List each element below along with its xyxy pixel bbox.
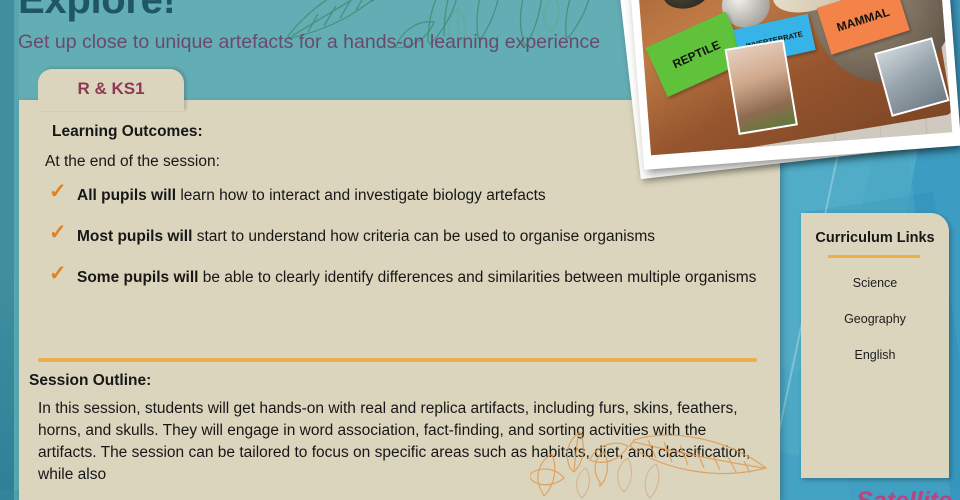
left-strip-outer	[0, 0, 14, 500]
bullet-lead: All pupils will	[77, 187, 176, 204]
list-item: Geography	[801, 312, 949, 326]
section-divider	[38, 358, 757, 362]
slide-canvas: Explore! Get up close to unique artefact…	[0, 0, 960, 500]
page-subtitle: Get up close to unique artefacts for a h…	[18, 31, 600, 54]
check-mark-icon: ✓	[49, 222, 67, 243]
photo-collage: BIRD REPTILE INVERTEBRATE MAMMAL	[625, 0, 955, 170]
list-item: ✓ All pupils will learn how to interact …	[45, 185, 757, 207]
list-item: English	[801, 348, 949, 362]
tab-key-stage[interactable]: R & KS1	[38, 69, 184, 111]
curriculum-links-rule	[828, 255, 920, 258]
session-outline-body: In this session, students will get hands…	[38, 398, 768, 486]
brand-logo-text: Satellite	[856, 487, 952, 500]
bullet-rest: start to understand how criteria can be …	[192, 228, 655, 245]
learning-outcomes-intro: At the end of the session:	[45, 153, 220, 171]
curriculum-links-panel: Curriculum Links Science Geography Engli…	[801, 213, 949, 478]
curriculum-links-list: Science Geography English	[801, 276, 949, 384]
list-item: ✓ Most pupils will start to understand h…	[45, 226, 757, 248]
curriculum-links-title: Curriculum Links	[801, 230, 949, 246]
biology-artefacts-photo: BIRD REPTILE INVERTEBRATE MAMMAL	[627, 0, 960, 170]
bullet-rest: be able to clearly identify differences …	[198, 269, 756, 286]
list-item: Science	[801, 276, 949, 290]
page-title: Explore!	[18, 0, 176, 23]
check-mark-icon: ✓	[49, 263, 67, 284]
bullet-lead: Most pupils will	[77, 228, 192, 245]
bullet-lead: Some pupils will	[77, 269, 198, 286]
list-item: ✓ Some pupils will be able to clearly id…	[45, 267, 757, 289]
tab-key-stage-label: R & KS1	[38, 79, 184, 99]
check-mark-icon: ✓	[49, 181, 67, 202]
bullet-rest: learn how to interact and investigate bi…	[176, 187, 546, 204]
session-outline-heading: Session Outline:	[29, 372, 151, 390]
learning-outcomes-list: ✓ All pupils will learn how to interact …	[45, 185, 757, 308]
learning-outcomes-heading: Learning Outcomes:	[52, 123, 203, 141]
